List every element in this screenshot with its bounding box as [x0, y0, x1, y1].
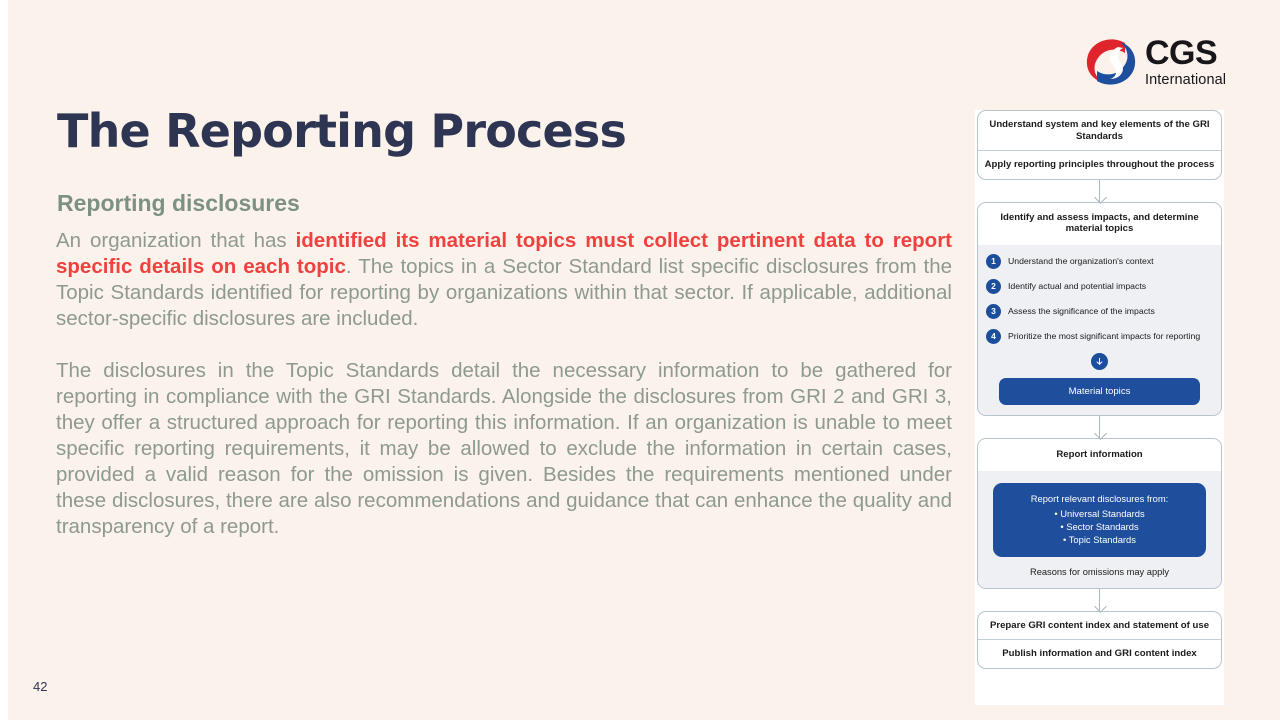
card-heading-identify-assess: Identify and assess impacts, and determi… — [978, 203, 1221, 245]
cgs-international-logo: CGS International — [1085, 36, 1226, 88]
material-topics-result: Material topics — [999, 378, 1200, 405]
slide-canvas: CGS International The Reporting Process … — [0, 0, 1280, 720]
cgs-swirl-icon — [1085, 37, 1137, 87]
report-body: Report relevant disclosures from: • Univ… — [978, 471, 1221, 588]
list-item: 4 Prioritize the most significant impact… — [978, 324, 1221, 349]
paragraph-2: The disclosures in the Topic Standards d… — [56, 358, 952, 540]
connector-arrow-1 — [1099, 180, 1100, 202]
disclosures-item-topic: • Topic Standards — [999, 533, 1200, 546]
card-row-apply-principles: Apply reporting principles throughout th… — [978, 150, 1221, 179]
disclosures-box: Report relevant disclosures from: • Univ… — [993, 483, 1206, 557]
list-item: 3 Assess the significance of the impacts — [978, 299, 1221, 324]
logo-tagline: International — [1145, 73, 1226, 88]
connector-arrow-3 — [1099, 589, 1100, 611]
step-badge-1: 1 — [986, 254, 1001, 269]
omissions-note: Reasons for omissions may apply — [978, 557, 1221, 580]
step-badge-4: 4 — [986, 329, 1001, 344]
step-label-1: Understand the organization's context — [1008, 256, 1154, 267]
disclosures-item-universal: • Universal Standards — [999, 507, 1200, 520]
arrow-down-icon — [1091, 353, 1108, 370]
diagram-card-identify-assess: Identify and assess impacts, and determi… — [977, 202, 1222, 416]
left-edge-stripe — [0, 0, 8, 720]
body-copy: An organization that has identified its … — [56, 228, 952, 540]
list-item: 2 Identify actual and potential impacts — [978, 274, 1221, 299]
card-heading-report-information: Report information — [978, 439, 1221, 471]
page-number: 42 — [33, 679, 47, 694]
list-item: 1 Understand the organization's context — [978, 249, 1221, 274]
logo-wordmark: CGS — [1145, 36, 1226, 70]
card-row-prepare-index: Prepare GRI content index and statement … — [978, 612, 1221, 640]
steps-list: 1 Understand the organization's context … — [978, 245, 1221, 415]
section-subtitle: Reporting disclosures — [57, 190, 300, 217]
step-label-2: Identify actual and potential impacts — [1008, 281, 1146, 292]
step-label-4: Prioritize the most significant impacts … — [1008, 331, 1200, 342]
card-row-understand-system: Understand system and key elements of th… — [978, 111, 1221, 150]
gri-reporting-process-diagram: Understand system and key elements of th… — [975, 110, 1224, 705]
diagram-card-understand: Understand system and key elements of th… — [977, 110, 1222, 180]
connector-arrow-2 — [1099, 416, 1100, 438]
step-label-3: Assess the significance of the impacts — [1008, 306, 1155, 317]
paragraph-1-lead: An organization that has — [56, 229, 296, 252]
diagram-card-publish: Prepare GRI content index and statement … — [977, 611, 1222, 669]
page-title: The Reporting Process — [57, 104, 626, 158]
disclosures-item-sector: • Sector Standards — [999, 520, 1200, 533]
diagram-card-report-information: Report information Report relevant discl… — [977, 438, 1222, 589]
step-badge-2: 2 — [986, 279, 1001, 294]
disclosures-box-title: Report relevant disclosures from: — [999, 492, 1200, 505]
step-badge-3: 3 — [986, 304, 1001, 319]
paragraph-1: An organization that has identified its … — [56, 228, 952, 332]
card-row-publish-index: Publish information and GRI content inde… — [978, 639, 1221, 668]
